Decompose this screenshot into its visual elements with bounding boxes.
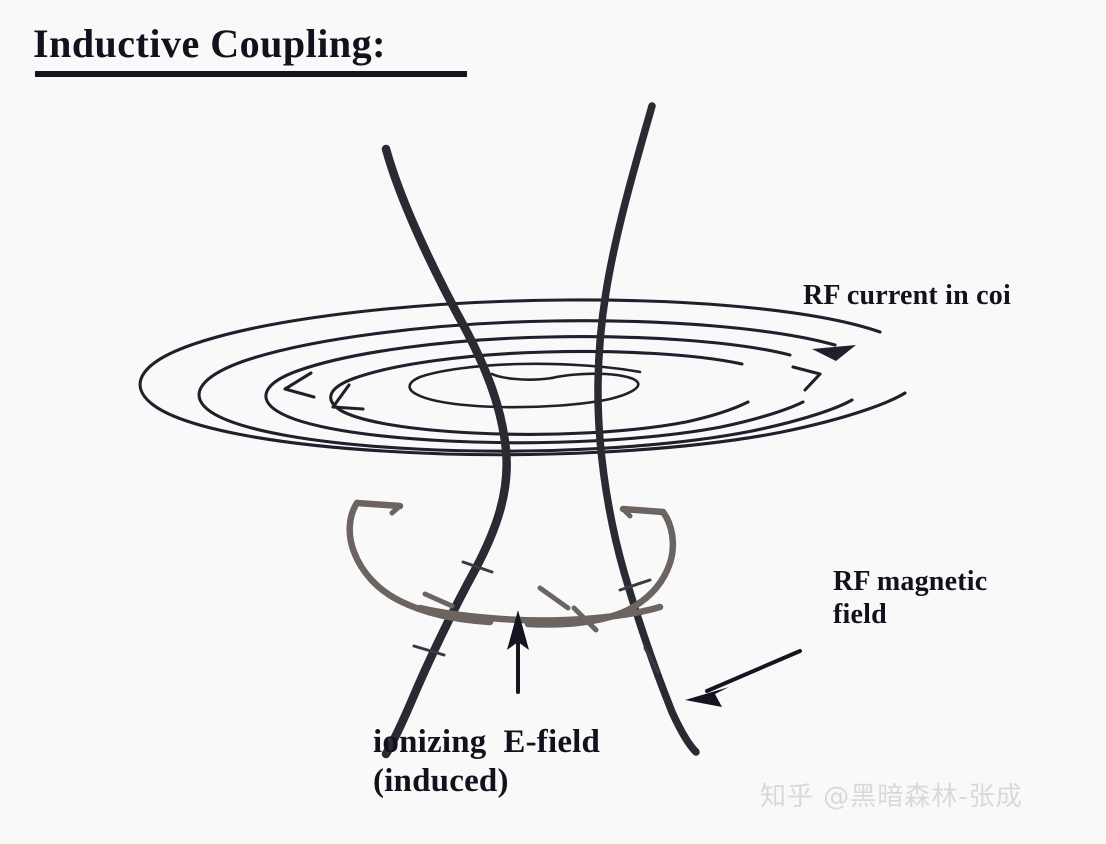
label-ionizing-line2: (induced) — [373, 763, 509, 799]
label-ionizing-e-field: ionizing E-field(induced) — [373, 723, 600, 801]
label-rf-magnetic-field: RF magneticfield — [833, 565, 987, 631]
coil-center-tail — [492, 374, 552, 380]
plasma-tick-left — [425, 594, 452, 606]
plasma-tick-mid — [540, 588, 568, 608]
rf-magnetic-arrow-stem — [707, 651, 800, 691]
coil-current-arrowheads — [285, 345, 856, 409]
coil-turn-2 — [199, 321, 852, 451]
rf-coil-spiral — [140, 300, 905, 455]
rf-magnetic-pointer-arrow — [685, 651, 800, 707]
label-rf-magnetic-line1: RF magnetic — [833, 566, 987, 597]
coil-arrowhead-right-tick — [793, 367, 820, 390]
plasma-loop-left-tip — [357, 503, 400, 506]
title-underline — [35, 71, 467, 77]
label-ionizing-line1: ionizing E-field — [373, 724, 600, 760]
label-rf-magnetic-line2: field — [833, 599, 887, 630]
diagram-canvas: .coil { fill:none; stroke:#20202c; strok… — [0, 0, 1106, 844]
coil-arrowhead-right-top — [812, 345, 856, 361]
watermark: 知乎 @黑暗森林-张成 — [760, 776, 1023, 813]
label-rf-current-in-coil: RF current in coi — [803, 279, 1011, 312]
page-title: Inductive Coupling: — [33, 20, 386, 67]
inductive-coupling-drawing: .coil { fill:none; stroke:#20202c; strok… — [0, 0, 1106, 844]
coil-turn-5 — [410, 364, 640, 407]
coil-arrowhead-left-upper — [285, 373, 314, 397]
